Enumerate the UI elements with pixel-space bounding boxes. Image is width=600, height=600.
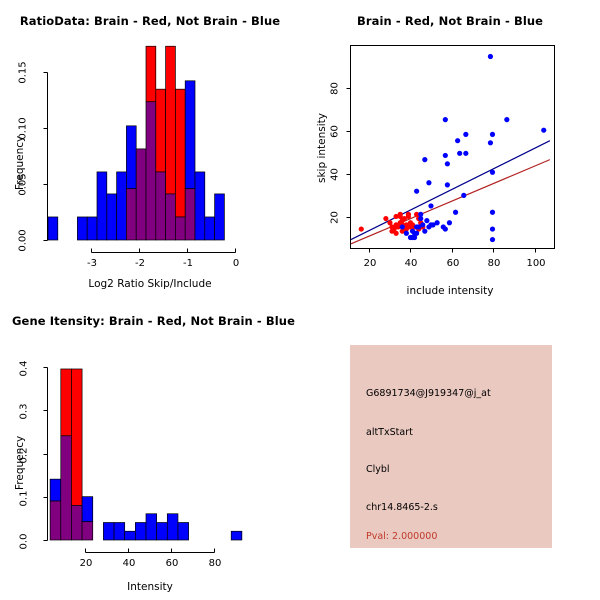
scatter-y-axis (347, 89, 351, 218)
scatter-ylabel: skip intensity (316, 113, 328, 183)
panel-gene-intensity-histogram: Gene Itensity: Brain - Red, Not Brain - … (0, 300, 300, 600)
plot-canvas: RatioData: Brain - Red, Not Brain - Blue (0, 0, 600, 600)
ratio-xtick-0: -3 (85, 258, 99, 269)
gene-xtick-2: 60 (164, 558, 180, 569)
scatter-ytick-0: 20 (330, 206, 341, 230)
gene-histogram-xlabel: Intensity (0, 581, 300, 593)
scatter-ytick-1: 40 (330, 163, 341, 187)
locus-text: chr14.8465-2.s (366, 502, 438, 513)
ratio-histogram-title: RatioData: Brain - Red, Not Brain - Blue (0, 14, 300, 28)
scatter-ytick-3: 80 (330, 77, 341, 101)
gene-ytick-0: 0.0 (19, 529, 30, 555)
scatter-fit-lines (351, 141, 550, 244)
probe-id-text: G6891734@J919347@j_at (366, 388, 491, 399)
panel-annotation-info: G6891734@J919347@j_at altTxStart Clybl c… (300, 300, 600, 600)
ratio-ytick-3: 0.15 (18, 58, 29, 88)
gene-histogram-x-axis (86, 549, 215, 553)
pval-text: Pval: 2.000000 (366, 531, 437, 542)
scatter-xtick-2: 60 (445, 258, 461, 269)
scatter-points (359, 54, 547, 242)
ratio-histogram-x-axis (92, 249, 236, 253)
ratio-xtick-2: -1 (181, 258, 195, 269)
scatter-xtick-1: 40 (403, 258, 419, 269)
scatter-xtick-0: 20 (362, 258, 378, 269)
scatter-xtick-3: 80 (486, 258, 502, 269)
ratio-xtick-1: -2 (133, 258, 147, 269)
scatter-svg (300, 0, 600, 300)
scatter-x-axis (370, 249, 536, 253)
gene-xtick-1: 40 (121, 558, 137, 569)
panel-intensity-scatter: Brain - Red, Not Brain - Blue 20 40 60 8… (300, 0, 600, 300)
gene-histogram-title: Gene Itensity: Brain - Red, Not Brain - … (0, 314, 312, 328)
scatter-ytick-2: 60 (330, 120, 341, 144)
gene-symbol-text: Clybl (366, 464, 390, 475)
gene-xtick-3: 80 (207, 558, 223, 569)
gene-histogram-svg (0, 300, 300, 600)
scatter-xtick-4: 100 (526, 258, 546, 269)
gene-histogram-ylabel: Frequency (14, 436, 26, 490)
panel-ratio-histogram: RatioData: Brain - Red, Not Brain - Blue (0, 0, 300, 300)
gene-histogram-y-axis (44, 368, 48, 541)
gene-ytick-4: 0.4 (19, 356, 30, 382)
ratio-xtick-3: 0 (229, 258, 243, 269)
ratio-histogram-ylabel: Frequency (14, 136, 26, 190)
scatter-xlabel: include intensity (300, 285, 600, 297)
scatter-title: Brain - Red, Not Brain - Blue (300, 14, 600, 28)
ratio-histogram-bars (48, 46, 224, 240)
ratio-ytick-0: 0.00 (18, 226, 29, 256)
gene-ytick-3: 0.3 (19, 399, 30, 425)
ratio-histogram-svg (0, 0, 300, 300)
ratio-histogram-y-axis (44, 73, 48, 241)
gene-histogram-bars (50, 369, 242, 540)
annotation-info-box: G6891734@J919347@j_at altTxStart Clybl c… (350, 345, 552, 548)
gene-xtick-0: 20 (78, 558, 94, 569)
scatter-plot-frame (351, 46, 555, 249)
ratio-histogram-xlabel: Log2 Ratio Skip/Include (0, 278, 300, 290)
event-type-text: altTxStart (366, 427, 413, 438)
